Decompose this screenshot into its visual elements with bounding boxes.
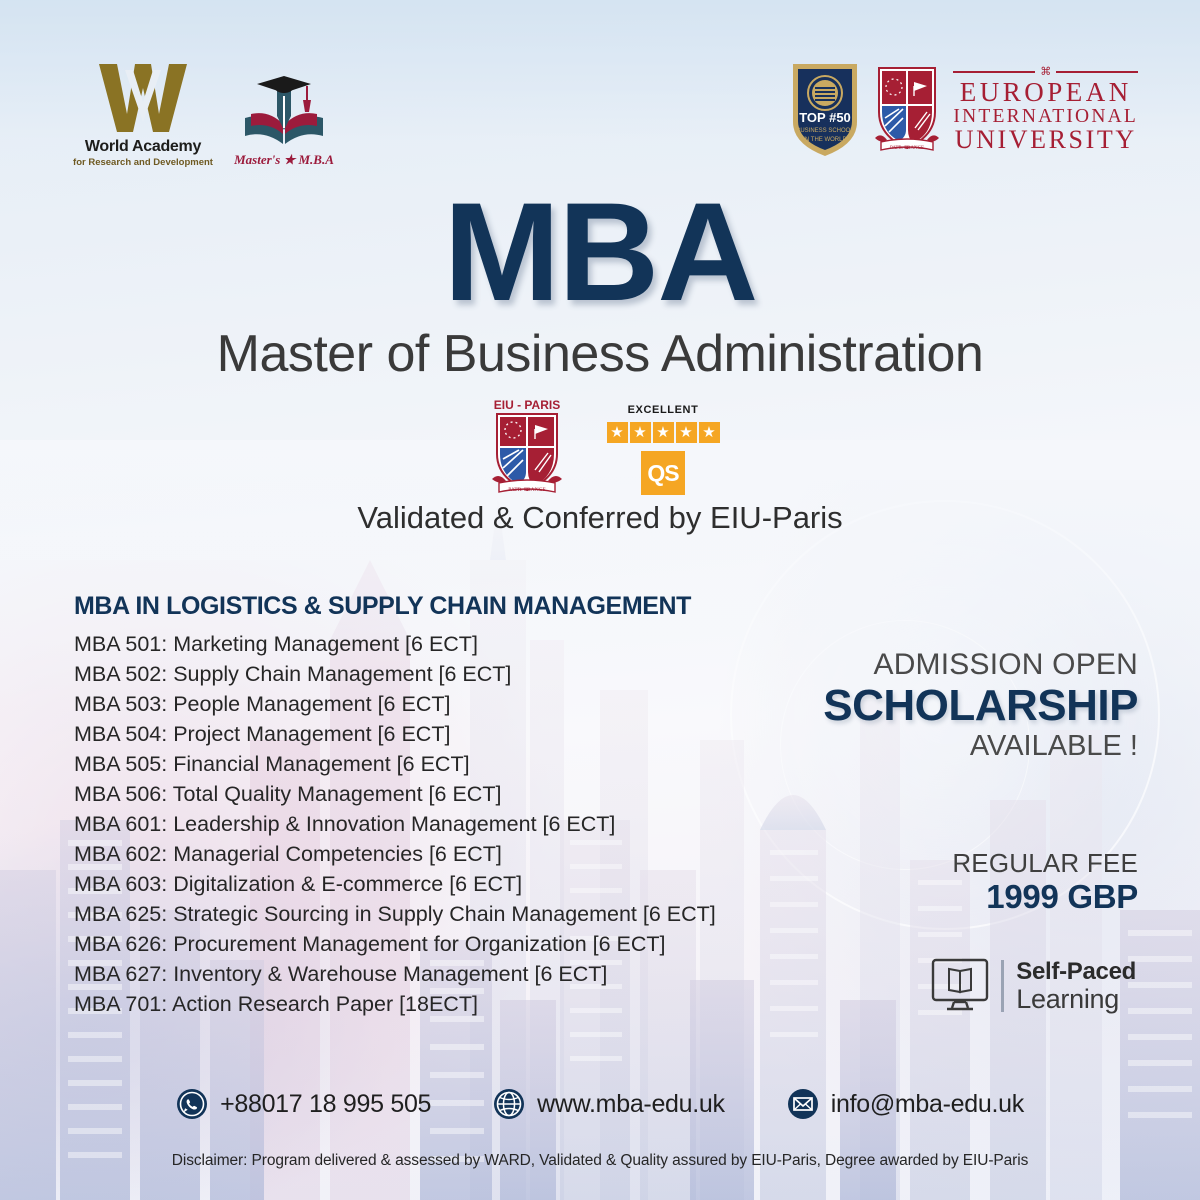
self-paced-line-1: Self-Paced bbox=[1016, 960, 1136, 984]
course-item: MBA 506: Total Quality Management [6 ECT… bbox=[74, 779, 864, 809]
eiu-line-2: INTERNATIONAL bbox=[953, 107, 1138, 127]
top50-badge-icon: TOP #50 BUSINESS SCHOOL IN THE WORLD bbox=[789, 60, 861, 160]
w-monogram-icon bbox=[95, 62, 191, 134]
qs-star-row: ★ ★ ★ ★ ★ bbox=[607, 422, 720, 443]
eiu-paris-crest-motto: PATR. FRANCE bbox=[508, 487, 546, 493]
course-item: MBA 602: Managerial Competencies [6 ECT] bbox=[74, 839, 864, 869]
email-icon[interactable] bbox=[787, 1088, 819, 1120]
self-paced-line-2: Learning bbox=[1016, 986, 1136, 1013]
contact-phone[interactable]: +88017 18 995 505 bbox=[176, 1088, 431, 1120]
svg-text:IN THE WORLD: IN THE WORLD bbox=[804, 137, 848, 143]
validated-by-text: Validated & Conferred by EIU-Paris bbox=[0, 500, 1200, 536]
course-item: MBA 505: Financial Management [6 ECT] bbox=[74, 749, 864, 779]
fee-label: REGULAR FEE bbox=[818, 848, 1138, 879]
eiu-shield-motto: PATR. FRANCE bbox=[890, 146, 924, 151]
eiu-line-3: UNIVERSITY bbox=[955, 127, 1137, 153]
course-item: MBA 601: Leadership & Innovation Managem… bbox=[74, 809, 864, 839]
masters-mba-wordmark: Master's ★ M.B.A bbox=[234, 152, 334, 168]
title-block: MBA Master of Business Administration bbox=[0, 182, 1200, 380]
graduation-pen-book-icon bbox=[241, 74, 327, 150]
course-item: MBA 603: Digitalization & E-commerce [6 … bbox=[74, 869, 864, 899]
eiu-shield-icon: PATR. FRANCE bbox=[869, 60, 945, 160]
self-paced-text: Self-Paced Learning bbox=[1016, 960, 1136, 1013]
course-item: MBA 627: Inventory & Warehouse Managemen… bbox=[74, 959, 864, 989]
monitor-book-icon bbox=[931, 958, 989, 1014]
star-icon: ★ bbox=[630, 422, 651, 443]
star-icon: ★ bbox=[676, 422, 697, 443]
program-heading: MBA IN LOGISTICS & SUPPLY CHAIN MANAGEME… bbox=[74, 592, 864, 621]
scholarship-text: SCHOLARSHIP bbox=[818, 682, 1138, 730]
page-title: MBA bbox=[0, 182, 1200, 322]
contact-email-text[interactable]: info@mba-edu.uk bbox=[831, 1090, 1024, 1119]
admission-open-text: ADMISSION OPEN bbox=[818, 648, 1138, 681]
header-left-logos: World Academy for Research and Developme… bbox=[78, 62, 334, 168]
header-right-logos: TOP #50 BUSINESS SCHOOL IN THE WORLD bbox=[789, 60, 1138, 160]
self-paced-divider bbox=[1001, 960, 1004, 1012]
star-icon: ★ bbox=[699, 422, 720, 443]
disclaimer-text: Disclaimer: Program delivered & assessed… bbox=[0, 1152, 1200, 1170]
contact-email[interactable]: info@mba-edu.uk bbox=[787, 1088, 1024, 1120]
svg-text:BUSINESS SCHOOL: BUSINESS SCHOOL bbox=[797, 128, 855, 134]
eiu-line-1: EUROPEAN bbox=[960, 79, 1132, 106]
accreditation-strip: EIU - PARIS PATR. FRANCE EX bbox=[0, 396, 1200, 500]
star-icon: ★ bbox=[653, 422, 674, 443]
poster-canvas: World Academy for Research and Developme… bbox=[0, 0, 1200, 1200]
course-item: MBA 504: Project Management [6 ECT] bbox=[74, 719, 864, 749]
contact-website[interactable]: www.mba-edu.uk bbox=[493, 1088, 725, 1120]
whatsapp-icon[interactable] bbox=[176, 1088, 208, 1120]
contact-bar: +88017 18 995 505 www.mba-edu.uk info@m bbox=[0, 1088, 1200, 1120]
svg-text:TOP #50: TOP #50 bbox=[800, 110, 852, 125]
contact-phone-text[interactable]: +88017 18 995 505 bbox=[220, 1090, 431, 1119]
eiu-wordmark: ⌘ EUROPEAN INTERNATIONAL UNIVERSITY bbox=[953, 67, 1138, 154]
program-section: MBA IN LOGISTICS & SUPPLY CHAIN MANAGEME… bbox=[74, 592, 864, 1019]
star-icon: ★ bbox=[607, 422, 628, 443]
self-paced-badge: Self-Paced Learning bbox=[931, 958, 1136, 1014]
globe-icon[interactable] bbox=[493, 1088, 525, 1120]
course-list: MBA 501: Marketing Management [6 ECT] MB… bbox=[74, 629, 864, 1019]
fee-value: 1999 GBP bbox=[818, 878, 1138, 916]
world-academy-tagline: for Research and Development bbox=[73, 157, 213, 168]
course-item: MBA 503: People Management [6 ECT] bbox=[74, 689, 864, 719]
course-item: MBA 626: Procurement Management for Orga… bbox=[74, 929, 864, 959]
qs-rating-label: EXCELLENT bbox=[628, 404, 699, 416]
world-academy-logo: World Academy for Research and Developme… bbox=[78, 62, 208, 168]
course-item: MBA 701: Action Research Paper [18ECT] bbox=[74, 989, 864, 1019]
page-subtitle: Master of Business Administration bbox=[0, 328, 1200, 380]
eiu-paris-crest-icon: EIU - PARIS PATR. FRANCE bbox=[481, 396, 573, 500]
world-academy-name: World Academy bbox=[85, 138, 201, 156]
available-text: AVAILABLE ! bbox=[818, 731, 1138, 763]
masters-mba-logo: Master's ★ M.B.A bbox=[234, 74, 334, 168]
contact-website-text[interactable]: www.mba-edu.uk bbox=[537, 1090, 725, 1119]
course-item: MBA 502: Supply Chain Management [6 ECT] bbox=[74, 659, 864, 689]
qs-logo: QS bbox=[641, 451, 685, 495]
course-item: MBA 625: Strategic Sourcing in Supply Ch… bbox=[74, 899, 864, 929]
qs-rating-block: EXCELLENT ★ ★ ★ ★ ★ QS bbox=[607, 396, 720, 495]
promo-block: ADMISSION OPEN SCHOLARSHIP AVAILABLE ! bbox=[818, 648, 1138, 763]
fee-block: REGULAR FEE 1999 GBP bbox=[818, 848, 1138, 916]
eiu-paris-crest-label: EIU - PARIS bbox=[493, 398, 559, 412]
course-item: MBA 501: Marketing Management [6 ECT] bbox=[74, 629, 864, 659]
